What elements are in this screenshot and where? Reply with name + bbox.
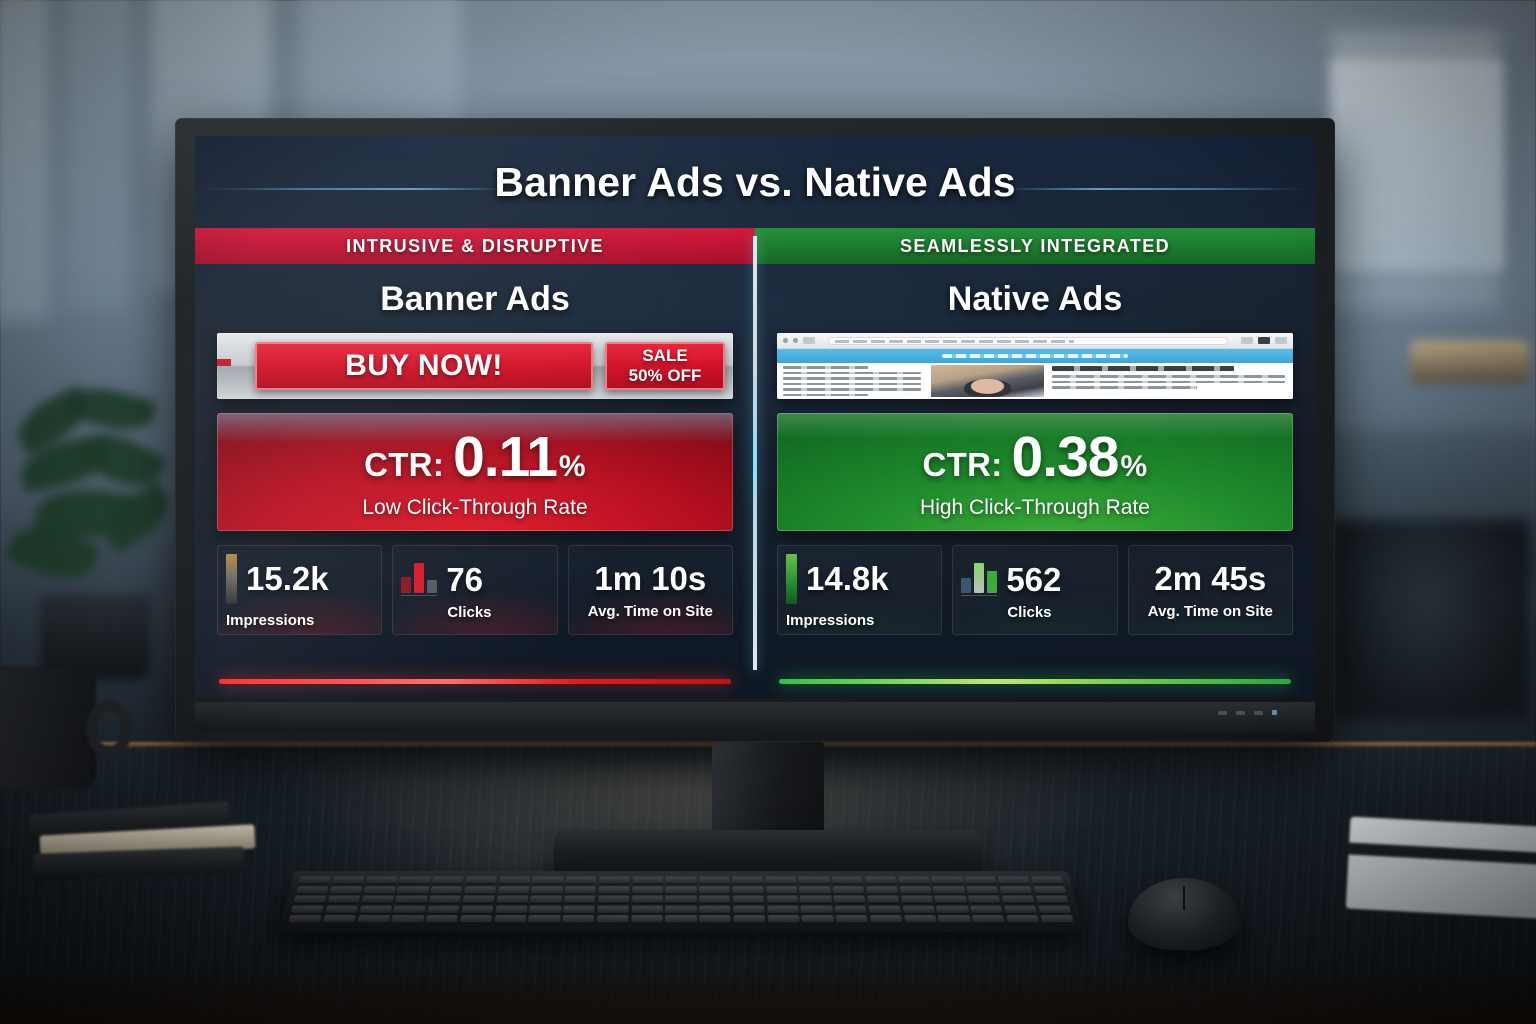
window-pane xyxy=(62,0,132,310)
metric-value: 1m 10s xyxy=(577,562,724,595)
browser-minimize-icon xyxy=(1241,337,1253,344)
sale-line-1: SALE xyxy=(642,346,687,366)
bar-chart-icon xyxy=(401,562,437,596)
site-header-bar xyxy=(777,349,1293,363)
article-photo xyxy=(931,365,1045,397)
ctr-panel-banner: CTR: 0.11 % Low Click-Through Rate xyxy=(217,413,733,531)
column-native-ads: SEAMLESSLY INTEGRATED Native Ads xyxy=(755,228,1315,698)
metric-card-time-on-site: 2m 45s Avg. Time on Site xyxy=(1128,545,1293,635)
notepad xyxy=(1346,817,1536,920)
monitor-chin xyxy=(195,702,1315,732)
site-content xyxy=(777,363,1293,399)
badge-intrusive: INTRUSIVE & DISRUPTIVE xyxy=(195,228,755,264)
metric-card-clicks: 562 Clicks xyxy=(952,545,1117,635)
slide-title-row: Banner Ads vs. Native Ads xyxy=(195,136,1315,228)
heading-banner-ads: Banner Ads xyxy=(217,280,733,319)
ctr-value: 0.38 xyxy=(1012,424,1119,490)
metric-card-time-on-site: 1m 10s Avg. Time on Site xyxy=(568,545,733,635)
ctr-unit: % xyxy=(559,450,586,484)
heading-native-ads: Native Ads xyxy=(777,280,1293,319)
monitor-screen: Banner Ads vs. Native Ads INTRUSIVE & DI… xyxy=(195,136,1315,698)
sale-badge[interactable]: SALE 50% OFF xyxy=(605,342,725,390)
metric-label: Impressions xyxy=(786,612,933,629)
window-pane xyxy=(0,0,50,320)
browser-address-bar xyxy=(828,337,1228,345)
comparison-columns: INTRUSIVE & DISRUPTIVE Banner Ads BUY NO… xyxy=(195,228,1315,698)
metric-cards-native: 14.8k Impressions 562 xyxy=(777,545,1293,635)
ctr-label: CTR: xyxy=(364,446,444,484)
browser-window-mockup xyxy=(777,333,1293,399)
column-banner-ads: INTRUSIVE & DISRUPTIVE Banner Ads BUY NO… xyxy=(195,228,755,698)
ctr-label: CTR: xyxy=(923,446,1003,484)
browser-menu-icon xyxy=(783,338,788,343)
gradient-bar-icon xyxy=(226,554,237,604)
browser-close-icon xyxy=(1275,337,1287,344)
browser-maximize-icon xyxy=(1258,337,1270,344)
metric-label: Clicks xyxy=(1007,604,1108,621)
buy-now-button[interactable]: BUY NOW! xyxy=(255,342,593,390)
monitor-controls[interactable] xyxy=(1218,710,1277,715)
metric-label: Avg. Time on Site xyxy=(577,603,724,620)
desk-photo-scene: Banner Ads vs. Native Ads INTRUSIVE & DI… xyxy=(0,0,1536,1024)
metric-label: Avg. Time on Site xyxy=(1137,603,1284,620)
coffee-mug xyxy=(0,666,96,790)
browser-back-icon xyxy=(793,338,798,343)
stacked-notebooks xyxy=(30,808,260,884)
ctr-panel-native: CTR: 0.38 % High Click-Through Rate xyxy=(777,413,1293,531)
accent-underline-green xyxy=(779,679,1291,684)
metric-value: 562 xyxy=(1006,563,1061,596)
background-chair xyxy=(1330,520,1530,720)
power-led-icon xyxy=(1272,710,1277,715)
metric-cards-banner: 15.2k Impressions 76 xyxy=(217,545,733,635)
metric-label: Impressions xyxy=(226,612,373,629)
metric-card-clicks: 76 Clicks xyxy=(392,545,557,635)
metric-value: 14.8k xyxy=(806,562,889,595)
computer-monitor: Banner Ads vs. Native Ads INTRUSIVE & DI… xyxy=(175,118,1335,742)
title-accent-line-right xyxy=(1007,188,1307,190)
ctr-value: 0.11 xyxy=(453,424,557,490)
sale-line-2: 50% OFF xyxy=(629,366,702,386)
browser-tab xyxy=(803,337,815,344)
metric-label: Clicks xyxy=(447,604,548,621)
window-pane xyxy=(1330,30,1500,310)
gradient-bar-icon xyxy=(786,554,797,604)
potted-plant xyxy=(10,390,200,680)
column-divider xyxy=(753,236,757,670)
metric-value: 2m 45s xyxy=(1137,562,1284,595)
badge-seamless: SEAMLESSLY INTEGRATED xyxy=(755,228,1315,264)
sponsored-article-column xyxy=(1048,363,1293,399)
title-accent-line-left xyxy=(203,188,503,190)
metric-value: 15.2k xyxy=(246,562,329,595)
mug-handle xyxy=(86,700,132,758)
presentation-slide: Banner Ads vs. Native Ads INTRUSIVE & DI… xyxy=(195,136,1315,698)
desk-lamp xyxy=(1410,340,1530,384)
metric-card-impressions: 15.2k Impressions xyxy=(217,545,382,635)
ctr-unit: % xyxy=(1120,450,1147,484)
metric-value: 76 xyxy=(446,563,483,596)
page-title: Banner Ads vs. Native Ads xyxy=(478,159,1031,206)
ctr-caption: Low Click-Through Rate xyxy=(362,496,587,520)
banner-ad-mockup: BUY NOW! SALE 50% OFF xyxy=(217,333,733,399)
browser-toolbar xyxy=(777,333,1293,349)
accent-underline-red xyxy=(219,679,731,684)
keyboard[interactable] xyxy=(278,871,1085,932)
ctr-caption: High Click-Through Rate xyxy=(920,496,1150,520)
article-text-column xyxy=(777,363,927,399)
bar-chart-icon xyxy=(961,562,997,596)
metric-card-impressions: 14.8k Impressions xyxy=(777,545,942,635)
